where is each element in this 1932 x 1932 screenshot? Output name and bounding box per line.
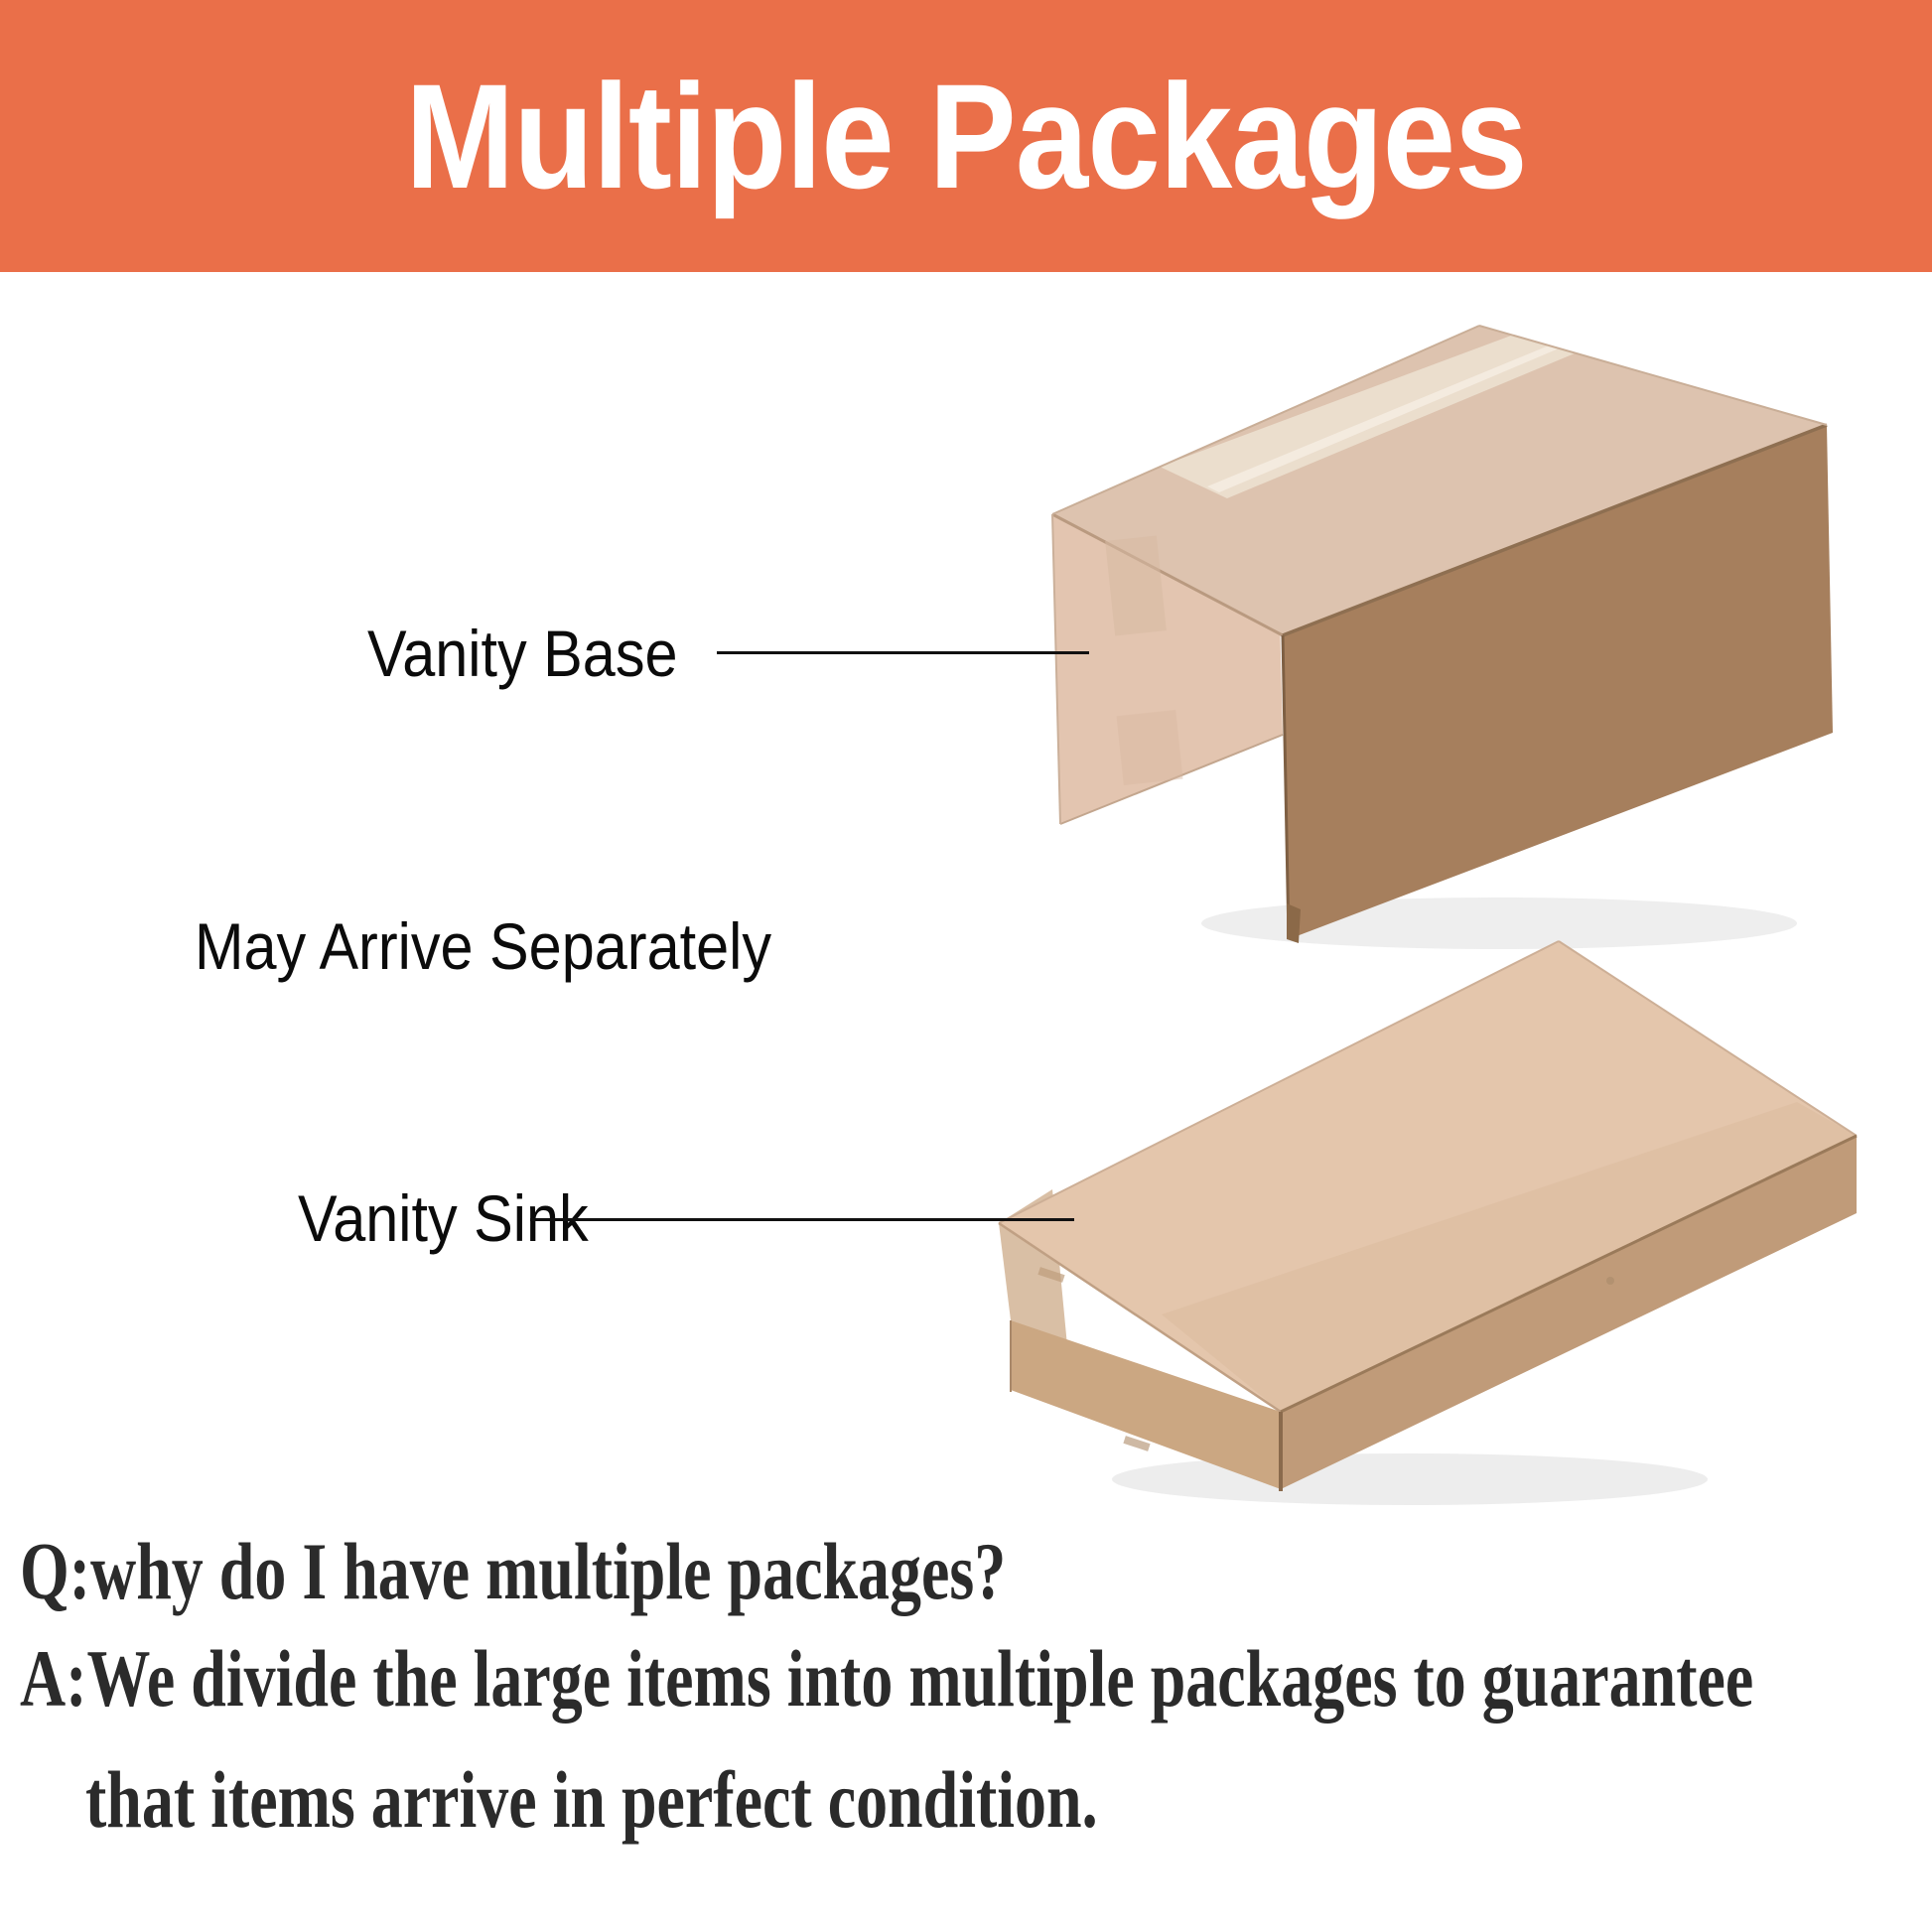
- leader-line-vanity-sink: [530, 1218, 1074, 1221]
- faq-answer-line-1: A:We divide the large items into multipl…: [20, 1638, 1753, 1720]
- package-vanity-base: [1033, 308, 1886, 953]
- label-may-arrive-separately: May Arrive Separately: [195, 913, 771, 979]
- leader-line-vanity-base: [717, 651, 1089, 654]
- infographic-page: Multiple Packages: [0, 0, 1932, 1932]
- label-vanity-base: Vanity Base: [367, 621, 678, 686]
- page-title: Multiple Packages: [116, 0, 1816, 272]
- faq-answer-line-2: that items arrive in perfect condition.: [85, 1759, 1098, 1841]
- faq-question: Q:why do I have multiple packages?: [20, 1531, 1006, 1612]
- header-banner: Multiple Packages: [0, 0, 1932, 272]
- package-vanity-sink: [983, 923, 1876, 1519]
